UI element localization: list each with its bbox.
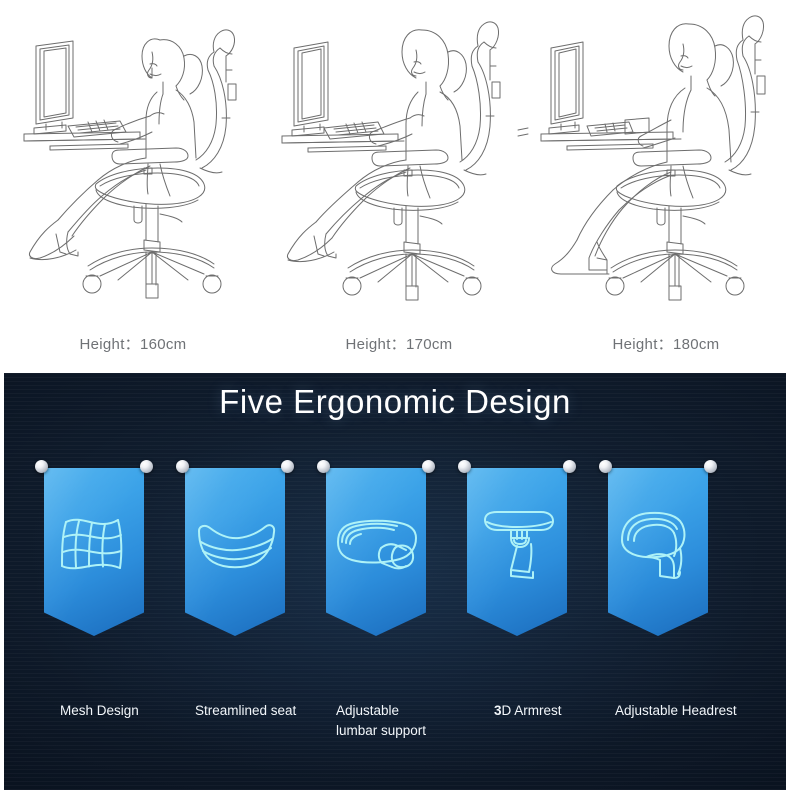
banner-streamlined-seat[interactable]	[180, 468, 290, 636]
height-label-160: Height：160cm	[0, 333, 266, 354]
section-title: Five Ergonomic Design	[4, 383, 786, 421]
banner-label-streamlined-seat: Streamlined seat	[195, 701, 296, 721]
headrest-icon	[608, 498, 708, 588]
height-label-170: Height：170cm	[266, 333, 532, 354]
banner-finial-left-icon	[458, 460, 471, 473]
banner-3d-armrest[interactable]	[462, 468, 572, 636]
banner-finial-right-icon	[422, 460, 435, 473]
five-ergonomic-design-section: Five Ergonomic Design	[4, 373, 786, 790]
banner-finial-left-icon	[317, 460, 330, 473]
seated-person-line-art-170	[266, 8, 532, 308]
lumbar-support-icon	[326, 498, 426, 588]
banner-finial-right-icon	[281, 460, 294, 473]
banner-label-lumbar-support: Adjustable lumbar support	[336, 701, 426, 740]
seat-cushion-icon	[185, 498, 285, 588]
armrest-icon	[467, 498, 567, 588]
banner-label-adjustable-headrest: Adjustable Headrest	[615, 701, 737, 721]
figure-column-170cm: Height：170cm	[266, 0, 532, 373]
banner-mesh-design[interactable]	[39, 468, 149, 636]
armrest-label-rest: D Armrest	[502, 703, 562, 718]
banner-finial-right-icon	[140, 460, 153, 473]
figure-column-180cm: Height：180cm	[533, 0, 799, 373]
seated-person-line-art-160	[0, 8, 266, 308]
banner-adjustable-headrest[interactable]	[603, 468, 713, 636]
banner-label-mesh-design: Mesh Design	[60, 701, 139, 721]
banner-finial-left-icon	[35, 460, 48, 473]
height-label-180: Height：180cm	[533, 333, 799, 354]
banner-lumbar-support[interactable]	[321, 468, 431, 636]
banner-finial-left-icon	[599, 460, 612, 473]
ergonomic-height-comparison-section: Height：160cm	[0, 0, 800, 373]
banner-finial-left-icon	[176, 460, 189, 473]
armrest-label-prefix: 3	[494, 703, 502, 718]
seated-person-line-art-180	[533, 8, 799, 308]
banner-finial-right-icon	[563, 460, 576, 473]
figure-column-160cm: Height：160cm	[0, 0, 266, 373]
banner-label-3d-armrest: 3D Armrest	[494, 701, 562, 721]
mesh-grid-icon	[44, 498, 144, 588]
banner-finial-right-icon	[704, 460, 717, 473]
